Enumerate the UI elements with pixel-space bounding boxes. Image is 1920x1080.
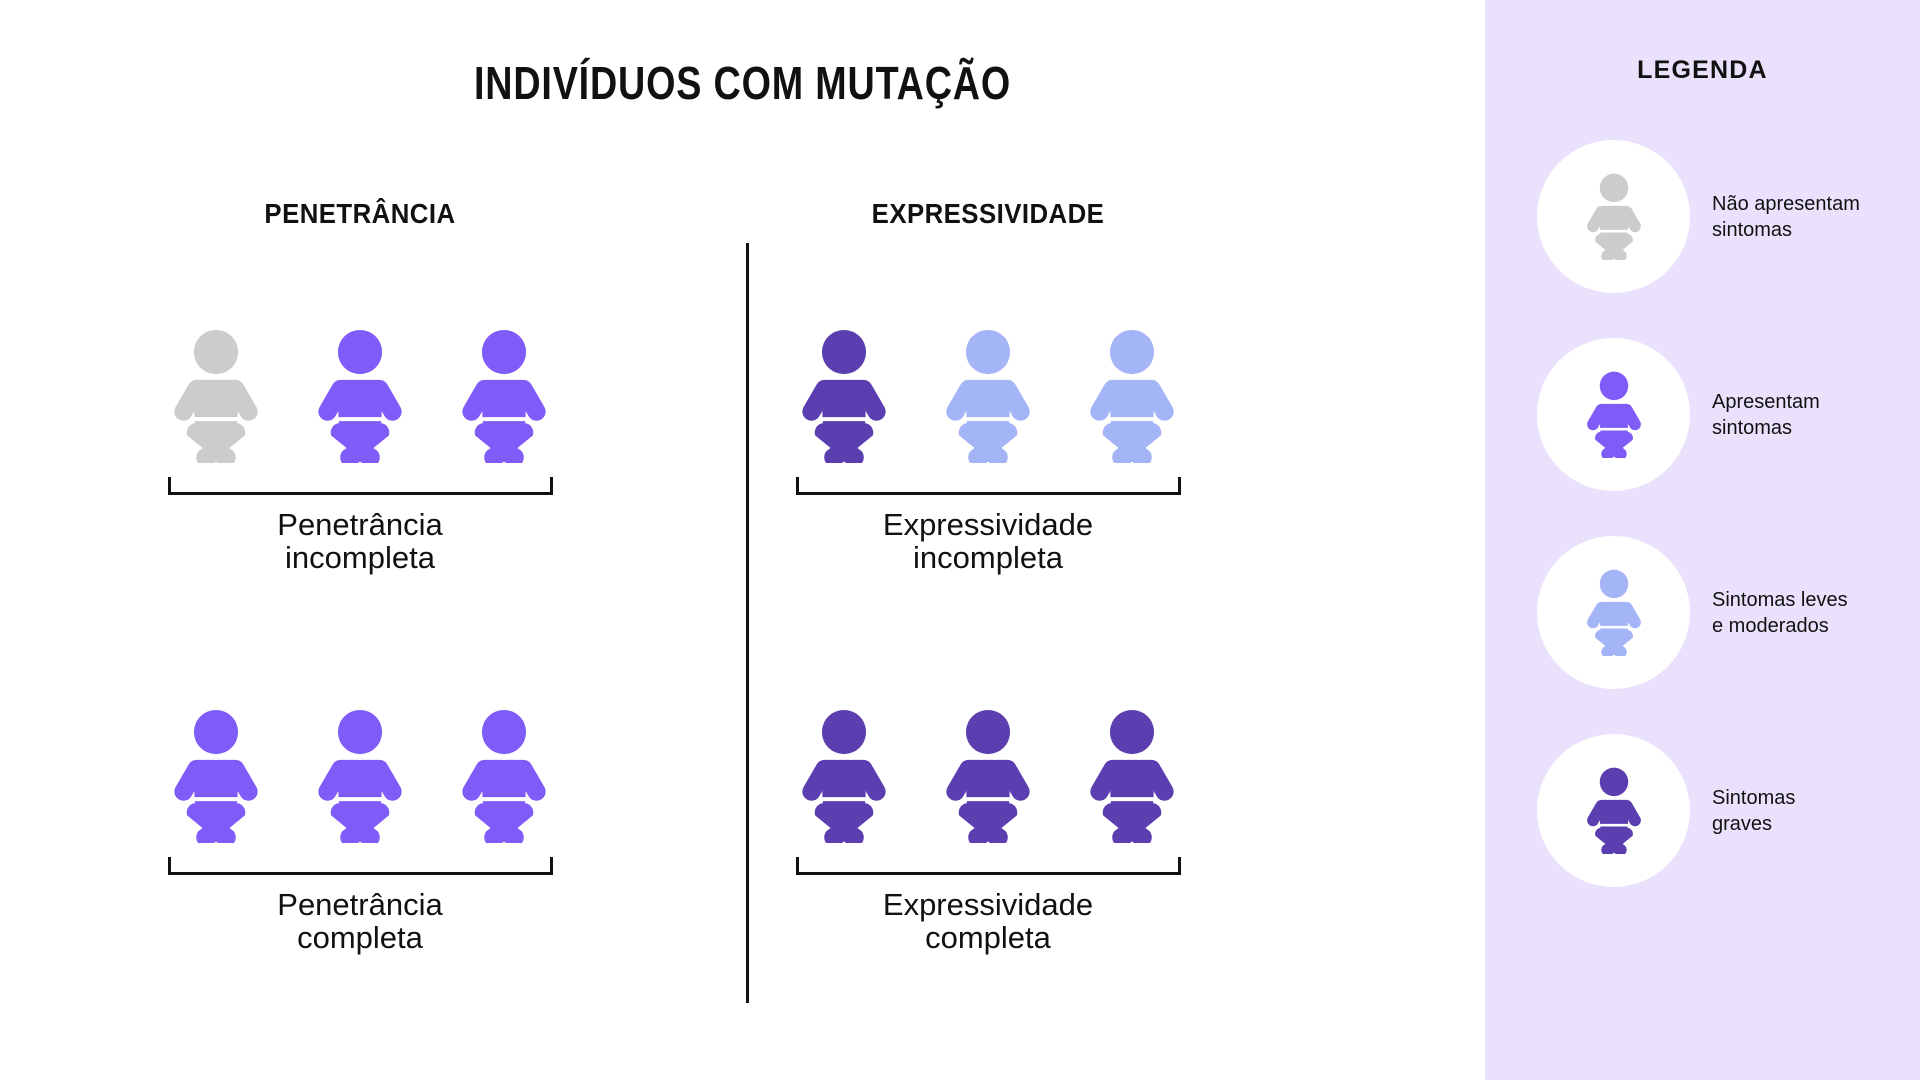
legend-title: LEGENDA	[1485, 56, 1920, 85]
baby-figure	[1084, 329, 1180, 463]
legend-label-line-1: Sintomas	[1712, 785, 1795, 811]
baby-figure-icon	[796, 329, 892, 463]
group-penetrancia-incompleta: Penetrância incompleta	[40, 278, 680, 575]
group-caption: Expressividade incompleta	[668, 509, 1308, 575]
caption-line-2: incompleta	[40, 542, 680, 575]
legend-label-line-2: e moderados	[1712, 613, 1848, 639]
caption-line-2: completa	[668, 922, 1308, 955]
baby-figure	[940, 709, 1036, 843]
column-heading-penetrancia: PENETRÂNCIA	[66, 198, 655, 230]
baby-figure	[796, 329, 892, 463]
legend-label-line-1: Sintomas leves	[1712, 587, 1848, 613]
baby-figure-icon	[168, 709, 264, 843]
group-bracket	[168, 477, 553, 495]
legend-label-line-2: sintomas	[1712, 415, 1820, 441]
caption-line-2: completa	[40, 922, 680, 955]
caption-line-1: Penetrância	[40, 889, 680, 922]
legend-badge	[1537, 140, 1690, 293]
legend-item-1: Apresentam sintomas	[1485, 338, 1920, 491]
baby-figure	[312, 329, 408, 463]
infographic-root: INDIVÍDUOS COM MUTAÇÃO PENETRÂNCIA	[0, 0, 1920, 1080]
baby-figure-icon	[1583, 569, 1645, 656]
legend-badge	[1537, 734, 1690, 887]
baby-figure-icon	[456, 329, 552, 463]
baby-figure	[456, 709, 552, 843]
legend-list: Não apresentam sintomas Apresentam sinto…	[1485, 140, 1920, 887]
baby-figure	[312, 709, 408, 843]
group-penetrancia-completa: Penetrância completa	[40, 658, 680, 955]
figure-row	[40, 278, 680, 463]
legend-label-line-2: graves	[1712, 811, 1795, 837]
baby-figure	[168, 709, 264, 843]
group-caption: Penetrância incompleta	[40, 509, 680, 575]
group-bracket	[796, 477, 1181, 495]
baby-figure-icon	[1084, 329, 1180, 463]
legend-label-line-1: Não apresentam	[1712, 191, 1860, 217]
group-bracket	[168, 857, 553, 875]
legend-label: Apresentam sintomas	[1712, 389, 1820, 441]
baby-figure	[168, 329, 264, 463]
column-heading-expressividade: EXPRESSIVIDADE	[694, 198, 1283, 230]
legend-label-line-2: sintomas	[1712, 217, 1860, 243]
baby-figure	[940, 329, 1036, 463]
baby-figure-icon	[456, 709, 552, 843]
legend-item-3: Sintomas graves	[1485, 734, 1920, 887]
baby-figure	[796, 709, 892, 843]
baby-figure-icon	[1583, 173, 1645, 260]
legend-badge	[1537, 338, 1690, 491]
figure-row	[668, 658, 1308, 843]
group-expressividade-completa: Expressividade completa	[668, 658, 1308, 955]
legend-badge	[1537, 536, 1690, 689]
legend-item-0: Não apresentam sintomas	[1485, 140, 1920, 293]
legend-label-line-1: Apresentam	[1712, 389, 1820, 415]
baby-figure-icon	[940, 709, 1036, 843]
baby-figure-icon	[796, 709, 892, 843]
baby-figure-icon	[1084, 709, 1180, 843]
baby-figure-icon	[168, 329, 264, 463]
baby-figure	[456, 329, 552, 463]
group-caption: Penetrância completa	[40, 889, 680, 955]
legend-label: Sintomas leves e moderados	[1712, 587, 1848, 639]
page-title: INDIVÍDUOS COM MUTAÇÃO	[134, 56, 1352, 110]
legend-item-2: Sintomas leves e moderados	[1485, 536, 1920, 689]
baby-figure-icon	[1583, 767, 1645, 854]
baby-figure	[1084, 709, 1180, 843]
group-expressividade-incompleta: Expressividade incompleta	[668, 278, 1308, 575]
baby-figure-icon	[312, 709, 408, 843]
legend-panel: LEGENDA Não apresentam sintomas	[1485, 0, 1920, 1080]
figure-row	[668, 278, 1308, 463]
legend-label: Não apresentam sintomas	[1712, 191, 1860, 243]
legend-label: Sintomas graves	[1712, 785, 1795, 837]
caption-line-2: incompleta	[668, 542, 1308, 575]
caption-line-1: Expressividade	[668, 509, 1308, 542]
group-bracket	[796, 857, 1181, 875]
baby-figure-icon	[1583, 371, 1645, 458]
caption-line-1: Penetrância	[40, 509, 680, 542]
figure-row	[40, 658, 680, 843]
baby-figure-icon	[940, 329, 1036, 463]
caption-line-1: Expressividade	[668, 889, 1308, 922]
baby-figure-icon	[312, 329, 408, 463]
main-panel: INDIVÍDUOS COM MUTAÇÃO PENETRÂNCIA	[0, 0, 1485, 1080]
group-caption: Expressividade completa	[668, 889, 1308, 955]
